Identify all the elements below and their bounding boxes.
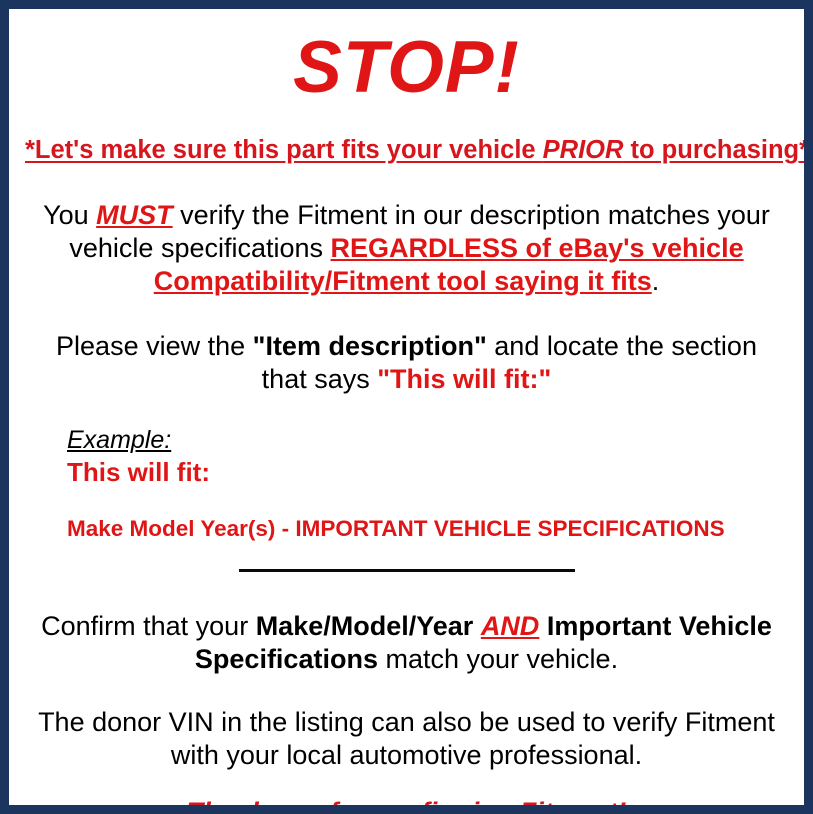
p2-emphasis-item-description: "Item description" (253, 331, 487, 361)
subtitle-tail-text: to purchasing* (623, 136, 809, 164)
p4-segment-5: match your vehicle. (378, 644, 618, 674)
example-fit-heading: This will fit: (67, 457, 792, 488)
p4-emphasis-make-model-year: Make/Model/Year (256, 611, 474, 641)
page-title: STOP! (21, 31, 792, 104)
example-label: Example: (67, 426, 792, 455)
notice-content: STOP! *Let's make sure this part fits yo… (11, 11, 802, 803)
paragraph-item-description: Please view the "Item description" and l… (21, 330, 792, 396)
p2-emphasis-this-will-fit: "This will fit:" (377, 364, 551, 394)
p2-segment-1: Please view the (56, 331, 253, 361)
p1-segment-5: . (652, 266, 660, 296)
subtitle-lead-text: *Let's make sure this part fits your veh… (25, 136, 543, 164)
p4-segment-1: Confirm that your (41, 611, 256, 641)
p5-line-1: The donor VIN in the listing can also be… (38, 707, 775, 737)
subtitle-emphasis-prior: PRIOR (543, 136, 624, 164)
subtitle-warning: *Let's make sure this part fits your veh… (21, 136, 792, 165)
paragraph-confirm-match: Confirm that your Make/Model/Year AND Im… (21, 610, 792, 676)
closing-thank-you: Thank you for confirming Fitment! (21, 796, 792, 814)
p1-emphasis-must: MUST (96, 200, 173, 230)
section-divider (239, 569, 575, 572)
p5-line-2: with your local automotive professional. (171, 740, 642, 770)
p1-segment-1: You (43, 200, 96, 230)
example-spec-line: Make Model Year(s) - IMPORTANT VEHICLE S… (67, 515, 792, 542)
fitment-notice-frame: STOP! *Let's make sure this part fits yo… (0, 0, 813, 814)
example-block: Example: This will fit: Make Model Year(… (21, 426, 792, 542)
section-divider-wrapper (21, 562, 792, 580)
paragraph-donor-vin: The donor VIN in the listing can also be… (21, 706, 792, 772)
p4-emphasis-and: AND (481, 611, 540, 641)
paragraph-verify-fitment: You MUST verify the Fitment in our descr… (21, 199, 792, 298)
